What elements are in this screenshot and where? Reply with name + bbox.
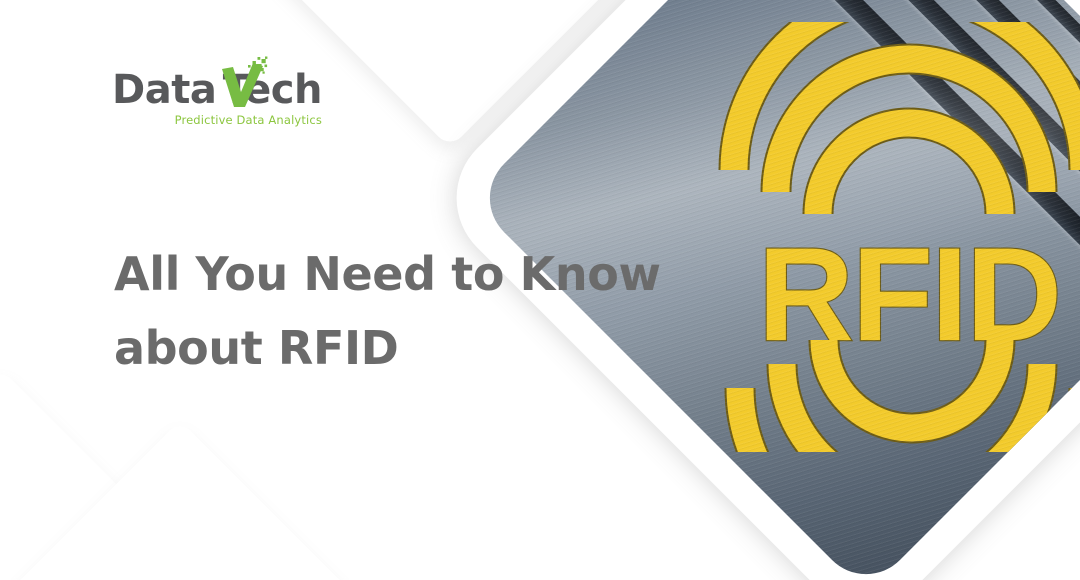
page-title: All You Need to Know about RFID	[114, 237, 714, 386]
logo-word-data: Data	[112, 70, 216, 110]
headline-line-1: All You Need to Know	[114, 237, 714, 312]
logo-tagline: Predictive Data Analytics	[112, 113, 322, 127]
headline-line-2: about RFID	[114, 311, 714, 386]
checkmark-v-svg	[218, 56, 268, 110]
banner-content: Data	[0, 0, 1080, 580]
logo-wordmark-row: Data	[112, 62, 322, 110]
datav-tech-logo[interactable]: Data	[112, 62, 322, 127]
green-checkmark-v-icon	[218, 56, 221, 110]
rfid-promo-banner: .arc { fill: none; stroke: #f3cb2c; stro…	[0, 0, 1080, 580]
